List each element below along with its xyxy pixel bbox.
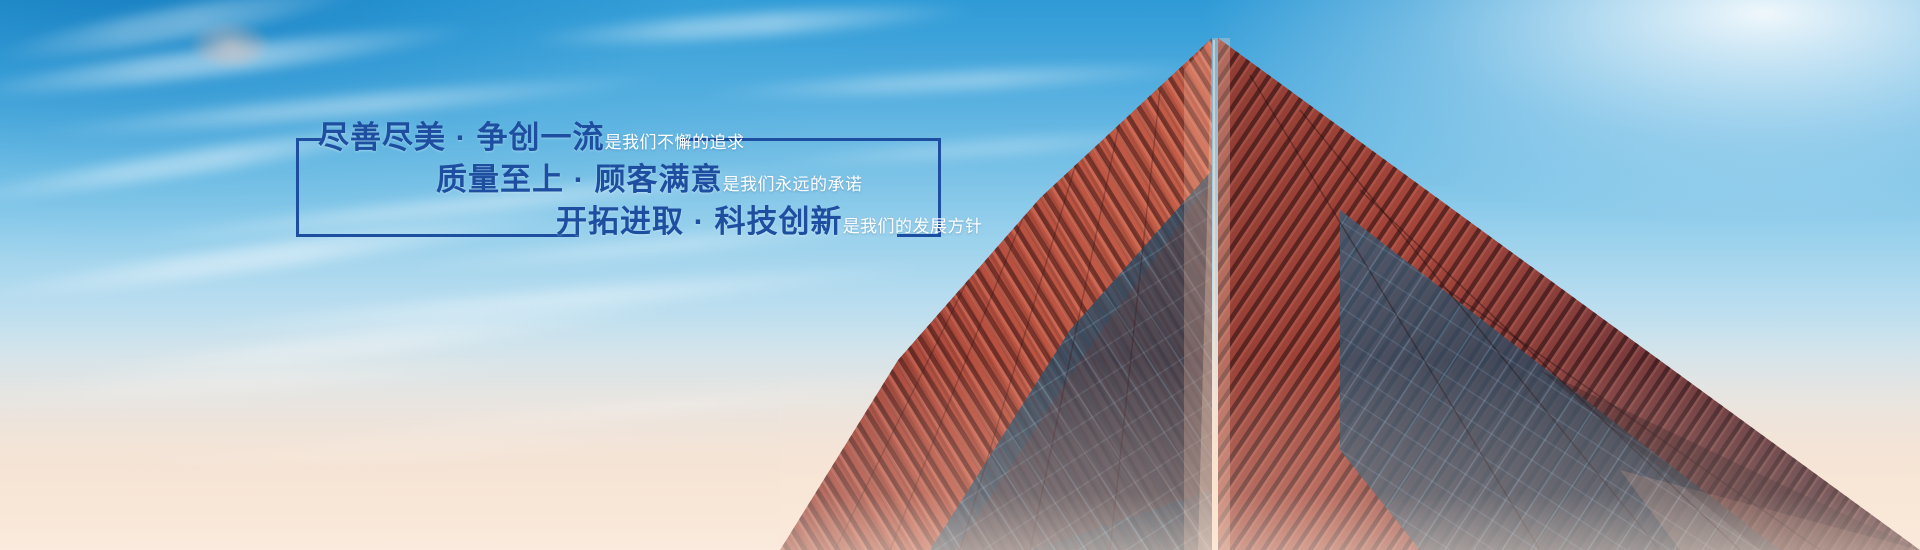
frame-segment-bottom-left xyxy=(296,234,579,237)
slogan-main-2: 质量至上 · 顾客满意 xyxy=(436,162,723,197)
slogan-sub-2: 是我们永远的承诺 xyxy=(723,175,863,194)
frame-segment-left xyxy=(296,138,299,237)
slogan-sub-1: 是我们不懈的追求 xyxy=(605,133,745,152)
hero-banner: 尽善尽美 · 争创一流是我们不懈的追求 质量至上 · 顾客满意是我们永远的承诺 … xyxy=(0,0,1920,550)
slogan-main-3: 开拓进取 · 科技创新 xyxy=(556,204,843,239)
slogan-line-2: 质量至上 · 顾客满意是我们永远的承诺 xyxy=(436,164,863,195)
slogan-block: 尽善尽美 · 争创一流是我们不懈的追求 质量至上 · 顾客满意是我们永远的承诺 … xyxy=(296,138,941,240)
slogan-line-3: 开拓进取 · 科技创新是我们的发展方针 xyxy=(556,206,983,237)
slogan-line-1: 尽善尽美 · 争创一流是我们不懈的追求 xyxy=(318,122,745,153)
slogan-main-1: 尽善尽美 · 争创一流 xyxy=(318,120,605,155)
sky-warm-haze xyxy=(0,319,1920,550)
lens-flare xyxy=(190,22,270,68)
slogan-sub-3: 是我们的发展方针 xyxy=(843,217,983,236)
sky-sun-glow xyxy=(806,0,1920,341)
